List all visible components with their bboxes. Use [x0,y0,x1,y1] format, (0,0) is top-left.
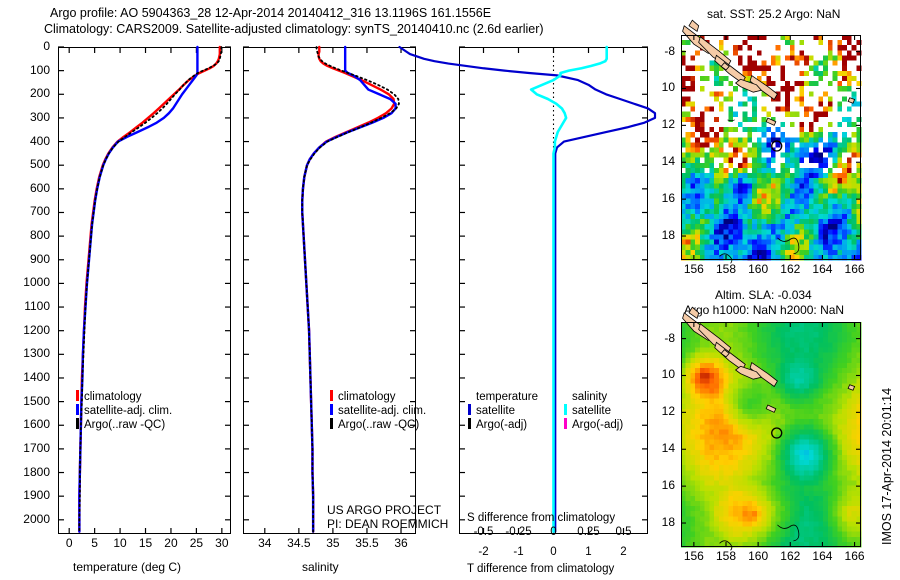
sst-map-frame [681,35,861,260]
depth-tick-label: 600 [30,181,50,195]
depth-tick-label: 900 [30,252,50,266]
difference-legend: temperaturesatelliteArgo(-adj)salinitysa… [468,390,623,432]
depth-tick-label: 500 [30,157,50,171]
map-lon-label: 160 [748,549,768,563]
legend-color-swatch [468,404,471,415]
t-diff-tick-label: 0 [550,546,556,558]
s-diff-tick-label: 0.5 [616,526,632,538]
depth-tick-label: 400 [30,134,50,148]
map-lon-label: 156 [684,262,704,276]
page-title-line1: Argo profile: AO 5904363_28 12-Apr-2014 … [50,6,491,20]
map-lon-label: 158 [716,262,736,276]
legend-item: Argo(..raw -QC) [76,418,172,432]
map-lon-label: 162 [780,549,800,563]
sst-map-title: sat. SST: 25.2 Argo: NaN [707,7,840,21]
depth-tick-label: 1800 [23,465,50,479]
s-diff-tick-label: -0.25 [505,526,531,538]
legend-item: satellite-adj. clim. [330,404,426,418]
depth-tick-label: 0 [43,39,50,53]
depth-tick-label: 100 [30,63,50,77]
legend-label: Argo(..raw -QC) [338,419,419,431]
page-title-line2: Climatology: CARS2009. Satellite-adjuste… [44,22,544,36]
map-lon-label: 166 [845,549,865,563]
map-lon-label: 164 [812,262,832,276]
depth-tick-label: 1600 [23,417,50,431]
sla-map-title-line1: Altim. SLA: -0.034 [715,288,812,302]
map-lat-label: 16 [662,191,675,205]
sst-map-yticklabels: -81012141618 [655,35,679,260]
t-diff-tick-label: -1 [513,546,523,558]
imos-timestamp-stamp: IMOS 17-Apr-2014 20:01:14 [880,545,900,559]
salinity-tick-label: 34 [258,536,271,550]
legend-label: satellite-adj. clim. [338,405,426,417]
legend-color-swatch [76,404,79,415]
temperature-tick-label: 10 [113,536,126,550]
temperature-yticklabels: 0100200300400500600700800900100011001200… [0,47,56,534]
legend-item: satellite-adj. clim. [76,404,172,418]
map-lat-label: 18 [662,515,675,529]
map-lat-label: 14 [662,441,675,455]
legend-label: satellite [476,405,515,417]
depth-tick-label: 1900 [23,488,50,502]
legend-item: climatology [330,390,426,404]
salinity-plot-svg [243,47,416,534]
legend-color-swatch [76,390,79,401]
legend-group-title: salinity [564,390,623,404]
map-lon-label: 162 [780,262,800,276]
legend-color-swatch [330,418,333,429]
legend-item: Argo(-adj) [468,418,538,432]
legend-column-temperature: temperaturesatelliteArgo(-adj) [468,390,538,432]
map-lat-label: 10 [662,80,675,94]
temperature-tick-label: 0 [66,536,73,550]
map-lat-label: -8 [664,44,675,58]
legend-column-salinity: salinitysatelliteArgo(-adj) [564,390,623,432]
temperature-axis-label: temperature (deg C) [73,560,181,574]
depth-tick-label: 1400 [23,370,50,384]
depth-tick-label: 300 [30,110,50,124]
depth-tick-label: 1000 [23,275,50,289]
legend-color-swatch [564,418,567,429]
legend-item: Argo(-adj) [564,418,623,432]
salinity-tick-label: 35.5 [355,536,378,550]
map-lon-label: 160 [748,262,768,276]
imos-timestamp-text: IMOS 17-Apr-2014 20:01:14 [880,388,894,545]
sla-map-yticklabels: -81012141618 [655,322,679,547]
map-lat-label: 10 [662,367,675,381]
legend-label: Argo(..raw -QC) [84,419,165,431]
map-lat-label: 18 [662,228,675,242]
project-credit-line1: US ARGO PROJECT [327,503,441,517]
map-lat-label: 16 [662,478,675,492]
project-credit-line2: PI: DEAN ROEMMICH [327,517,448,531]
map-lat-label: 14 [662,154,675,168]
salinity-axis-label: salinity [302,560,339,574]
legend-color-swatch [76,418,79,429]
difference-s-axis-label: S difference from climatology [467,512,615,524]
s-diff-tick-label: -0.5 [474,526,494,538]
legend-label: Argo(-adj) [572,419,623,431]
depth-tick-label: 1300 [23,346,50,360]
depth-tick-label: 200 [30,86,50,100]
depth-tick-label: 1700 [23,441,50,455]
t-diff-tick-label: 1 [585,546,591,558]
map-lat-label: -8 [664,331,675,345]
depth-tick-label: 1500 [23,394,50,408]
temperature-tick-label: 15 [139,536,152,550]
temperature-tick-label: 25 [190,536,203,550]
map-lon-label: 166 [845,262,865,276]
legend-group-title: temperature [468,390,538,404]
salinity-tick-label: 34.5 [287,536,310,550]
legend-item: satellite [468,404,538,418]
salinity-tick-label: 36 [394,536,407,550]
salinity-legend: climatologysatellite-adj. clim.Argo(..ra… [330,390,426,432]
temperature-plot-svg [58,47,231,534]
legend-color-swatch [468,418,471,429]
t-diff-tick-label: -2 [478,546,488,558]
legend-label: satellite-adj. clim. [84,405,172,417]
map-lon-label: 164 [812,549,832,563]
legend-label: climatology [338,391,396,403]
map-lat-label: 12 [662,117,675,131]
difference-t-axis-label: T difference from climatology [467,563,614,575]
depth-tick-label: 2000 [23,512,50,526]
difference-plot-svg [459,47,648,534]
legend-item: satellite [564,404,623,418]
depth-tick-label: 800 [30,228,50,242]
s-diff-tick-label: 0 [550,526,556,538]
legend-color-swatch [330,404,333,415]
legend-item: climatology [76,390,172,404]
map-lon-label: 158 [716,549,736,563]
legend-color-swatch [330,390,333,401]
temperature-tick-label: 30 [215,536,228,550]
legend-color-swatch [564,404,567,415]
map-lat-label: 12 [662,404,675,418]
legend-item: Argo(..raw -QC) [330,418,426,432]
temperature-tick-label: 5 [91,536,98,550]
legend-label: climatology [84,391,142,403]
t-diff-tick-label: 2 [620,546,626,558]
depth-tick-label: 1200 [23,323,50,337]
sla-map-title-line2: Argo h1000: NaN h2000: NaN [684,303,844,317]
temperature-legend: climatologysatellite-adj. clim.Argo(..ra… [76,390,172,432]
legend-label: satellite [572,405,611,417]
sla-map-frame [681,322,861,547]
depth-tick-label: 700 [30,204,50,218]
map-lon-label: 156 [684,549,704,563]
temperature-tick-label: 20 [164,536,177,550]
salinity-tick-label: 35 [326,536,339,550]
legend-label: Argo(-adj) [476,419,527,431]
s-diff-tick-label: 0.25 [577,526,599,538]
depth-tick-label: 1100 [24,299,50,313]
